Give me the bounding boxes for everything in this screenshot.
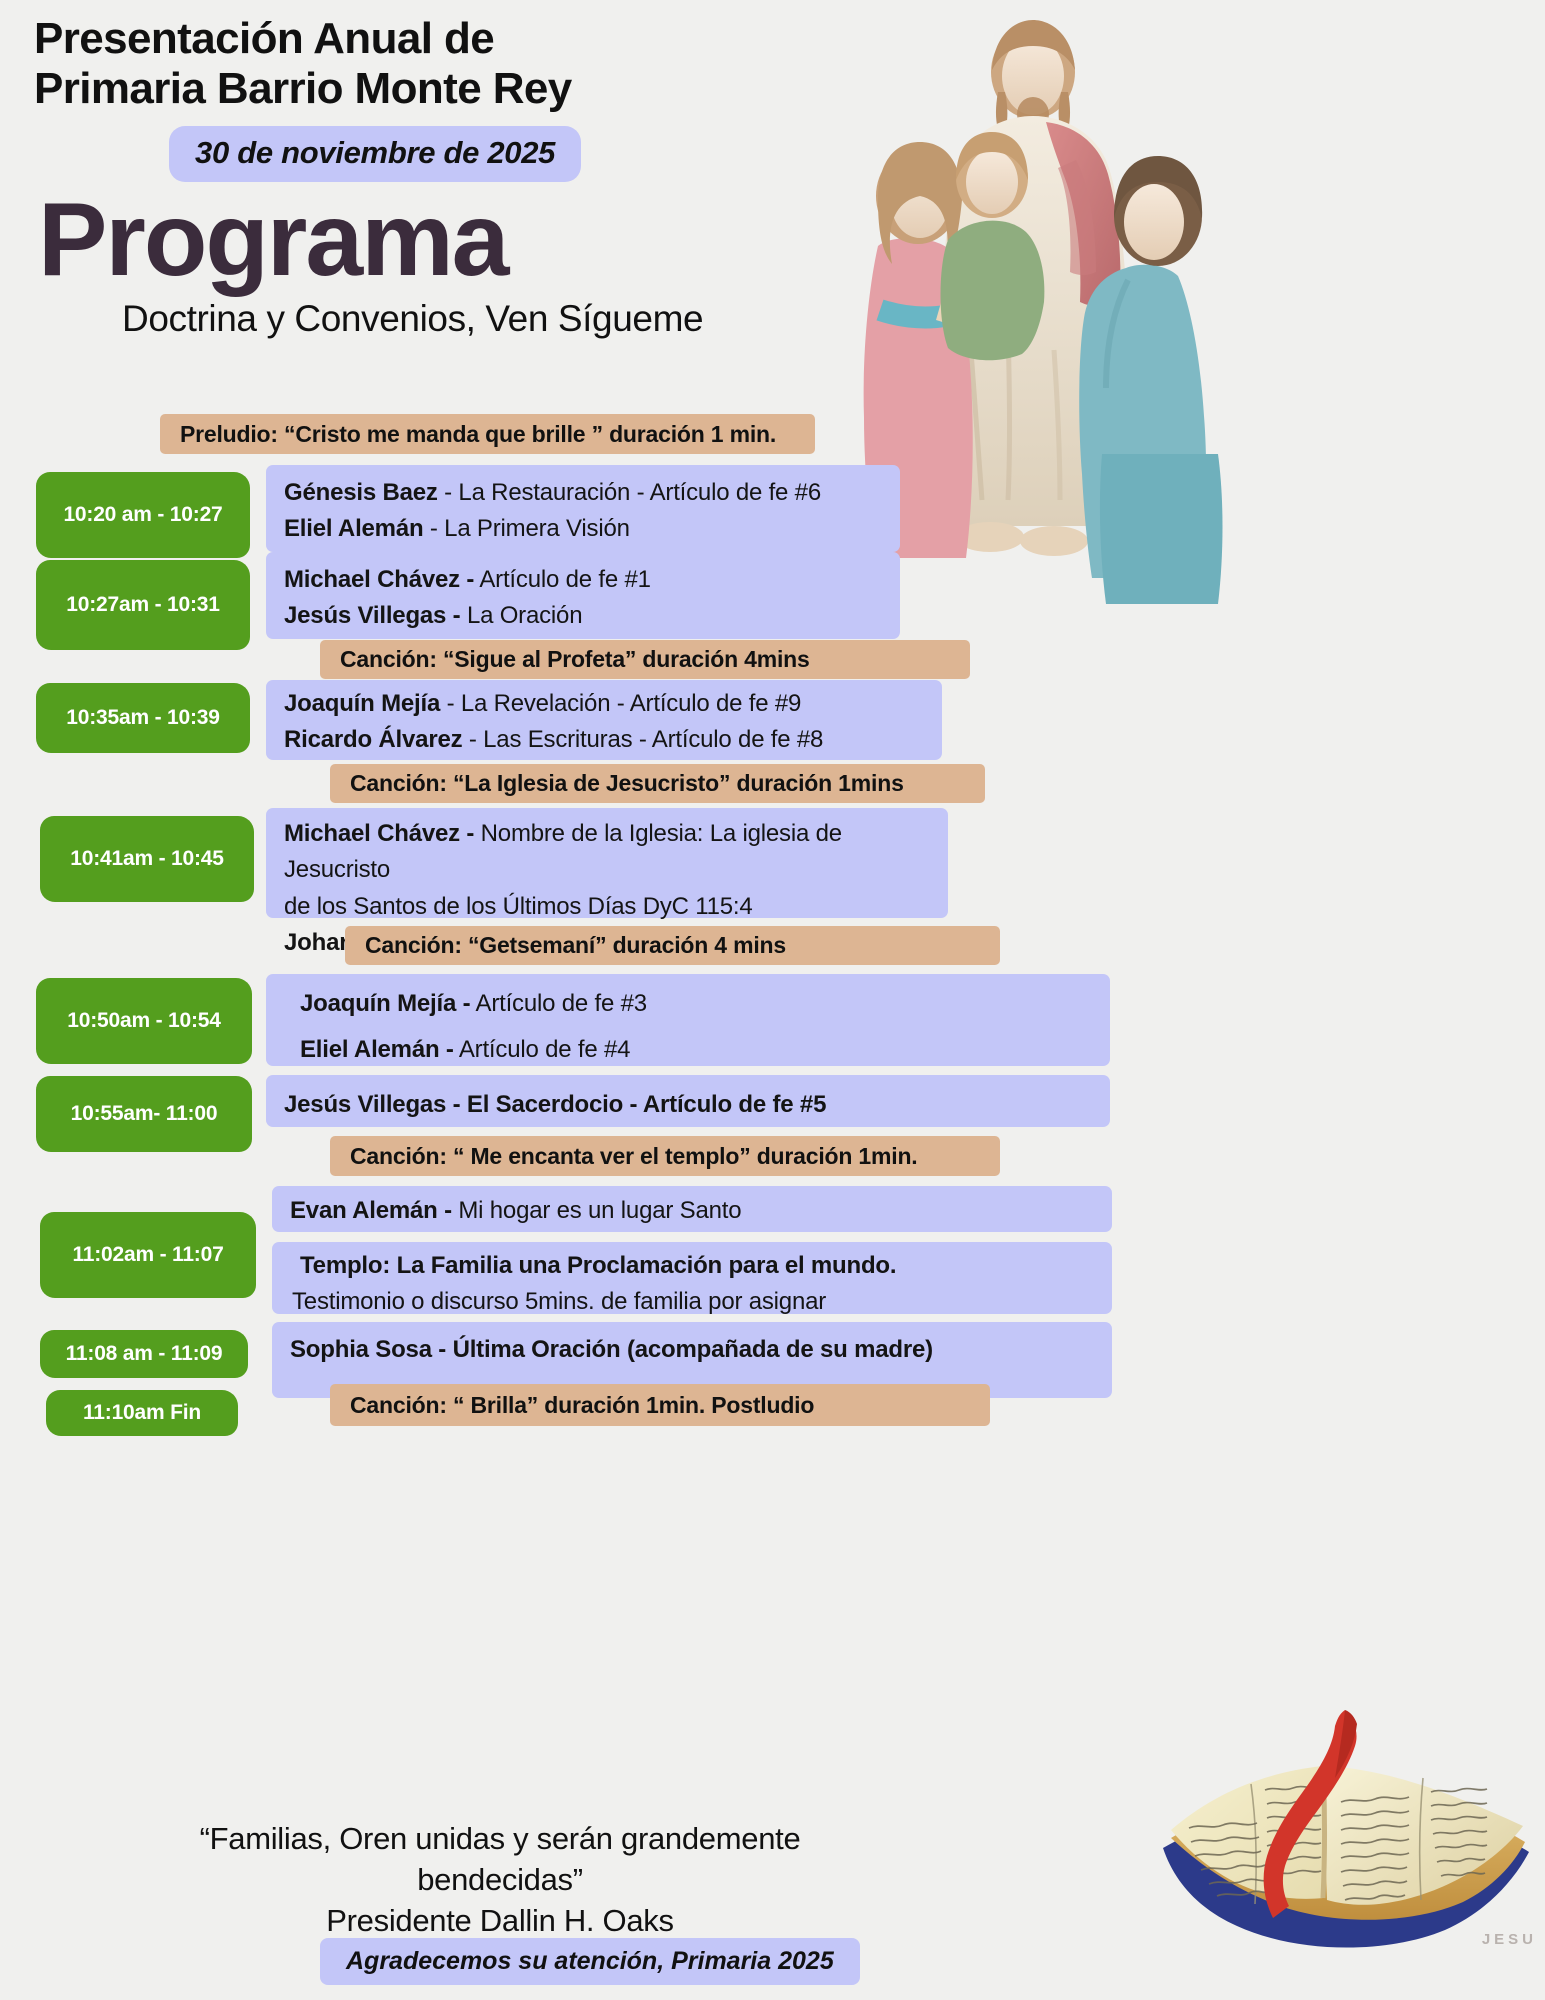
time-label: 11:10am Fin <box>83 1401 201 1425</box>
speaker-desc: Mi hogar es un lugar Santo <box>458 1197 741 1224</box>
speaker-line: Michael Chávez - Artículo de fe #1 <box>284 562 882 598</box>
big-title: Programa <box>38 188 934 292</box>
poster-header: Presentación Anual de Primaria Barrio Mo… <box>34 14 934 340</box>
speaker-name: Joaquín Mejía - <box>300 990 470 1017</box>
time-chip: 10:41am - 10:45 <box>40 816 254 902</box>
speaker-name: Eliel Alemán - <box>300 1036 454 1063</box>
time-label: 11:08 am - 11:09 <box>66 1342 223 1366</box>
speaker-name: Jesús Villegas - <box>284 602 460 629</box>
time-label: 10:55am- 11:00 <box>71 1102 218 1126</box>
time-chip: 11:08 am - 11:09 <box>40 1330 248 1378</box>
jesus-with-children-illustration <box>840 10 1240 605</box>
speaker-desc: La Oración <box>467 602 582 629</box>
time-label: 10:20 am - 10:27 <box>63 503 222 527</box>
time-chip: 11:02am - 11:07 <box>40 1212 256 1298</box>
open-book-illustration <box>1155 1680 1545 1980</box>
closing-quote: “Familias, Oren unidas y serán grandemen… <box>120 1818 880 1942</box>
quote-line-1: “Familias, Oren unidas y serán grandemen… <box>200 1821 801 1897</box>
speaker-bar: Joaquín Mejía - Artículo de fe #3 Eliel … <box>266 974 1110 1066</box>
prelude-bar: Preludio: “Cristo me manda que brille ” … <box>160 414 815 454</box>
song-label: Canción: “La Iglesia de Jesucristo” dura… <box>350 770 904 797</box>
speaker-name: Michael Chávez - <box>284 566 474 593</box>
quote-line-2: Presidente Dallin H. Oaks <box>120 1900 880 1941</box>
thanks-badge: Agradecemos su atención, Primaria 2025 <box>320 1938 860 1985</box>
speaker-desc: Artículo de fe #4 <box>459 1036 630 1063</box>
song-bar: Canción: “La Iglesia de Jesucristo” dura… <box>330 764 985 803</box>
song-bar: Canción: “ Me encanta ver el templo” dur… <box>330 1136 1000 1176</box>
speaker-line: Eliel Alemán - Artículo de fe #4 <box>300 1032 1092 1068</box>
song-bar: Canción: “Sigue al Profeta” duración 4mi… <box>320 640 970 679</box>
title-line-2: Primaria Barrio Monte Rey <box>34 64 934 114</box>
speaker-line: de los Santos de los Últimos Días DyC 11… <box>284 889 930 925</box>
song-bar: Canción: “ Brilla” duración 1min. Postlu… <box>330 1384 990 1426</box>
speaker-desc: Las Escrituras - Artículo de fe #8 <box>483 726 823 753</box>
time-chip: 11:10am Fin <box>46 1390 238 1436</box>
speaker-bar: Michael Chávez - Nombre de la Iglesia: L… <box>266 808 948 918</box>
time-label: 10:50am - 10:54 <box>67 1009 220 1033</box>
title-line-1: Presentación Anual de <box>34 14 934 64</box>
speaker-name: Jesús Villegas - El Sacerdocio - Artícul… <box>284 1091 826 1118</box>
song-label: Canción: “ Me encanta ver el templo” dur… <box>350 1143 917 1170</box>
speaker-bar: Joaquín Mejía - La Revelación - Artículo… <box>266 680 942 760</box>
speaker-name: Ricardo Álvarez <box>284 726 462 753</box>
speaker-desc: de los Santos de los Últimos Días DyC 11… <box>284 893 753 920</box>
speaker-name: Eliel Alemán <box>284 515 423 542</box>
time-chip: 10:20 am - 10:27 <box>36 472 250 558</box>
speaker-bar: Templo: La Familia una Proclamación para… <box>272 1242 1112 1314</box>
page-title: Presentación Anual de Primaria Barrio Mo… <box>34 14 934 114</box>
speaker-name: Joaquín Mejía <box>284 690 440 717</box>
speaker-bar: Michael Chávez - Artículo de fe #1 Jesús… <box>266 552 900 639</box>
speaker-desc: Testimonio o discurso 5mins. de familia … <box>292 1288 826 1315</box>
time-label: 11:02am - 11:07 <box>72 1243 223 1267</box>
time-label: 10:41am - 10:45 <box>70 847 223 871</box>
speaker-name: Génesis Baez <box>284 479 438 506</box>
program-poster: Presentación Anual de Primaria Barrio Mo… <box>0 0 1545 2000</box>
time-chip: 10:27am - 10:31 <box>36 560 250 650</box>
speaker-desc: La Primera Visión <box>444 515 630 542</box>
speaker-line: Templo: La Familia una Proclamación para… <box>300 1248 1094 1284</box>
speaker-line: Joaquín Mejía - La Revelación - Artículo… <box>284 686 924 722</box>
speaker-name: Templo: La Familia una Proclamación para… <box>300 1252 896 1279</box>
song-label: Canción: “ Brilla” duración 1min. Postlu… <box>350 1392 814 1419</box>
speaker-bar: Génesis Baez - La Restauración - Artícul… <box>266 465 900 552</box>
prelude-label: Preludio: “Cristo me manda que brille ” … <box>180 421 776 448</box>
speaker-bar: Evan Alemán - Mi hogar es un lugar Santo <box>272 1186 1112 1232</box>
time-chip: 10:35am - 10:39 <box>36 683 250 753</box>
speaker-name: Sophia Sosa - Última Oración (acompañada… <box>290 1336 933 1363</box>
speaker-line: Testimonio o discurso 5mins. de familia … <box>292 1284 1094 1320</box>
song-label: Canción: “Getsemaní” duración 4 mins <box>365 932 786 959</box>
song-label: Canción: “Sigue al Profeta” duración 4mi… <box>340 646 810 673</box>
speaker-line: Génesis Baez - La Restauración - Artícul… <box>284 475 882 511</box>
time-label: 10:27am - 10:31 <box>66 593 219 617</box>
time-chip: 10:55am- 11:00 <box>36 1076 252 1152</box>
speaker-desc: Artículo de fe #1 <box>479 566 650 593</box>
date-badge: 30 de noviembre de 2025 <box>169 126 581 182</box>
time-label: 10:35am - 10:39 <box>66 706 219 730</box>
speaker-name: Michael Chávez - <box>284 820 474 847</box>
time-chip: 10:50am - 10:54 <box>36 978 252 1064</box>
speaker-line: Ricardo Álvarez - Las Escrituras - Artíc… <box>284 722 924 758</box>
speaker-bar: Jesús Villegas - El Sacerdocio - Artícul… <box>266 1075 1110 1127</box>
speaker-line: Joaquín Mejía - Artículo de fe #3 <box>300 986 1092 1022</box>
speaker-desc: Artículo de fe #3 <box>476 990 647 1017</box>
speaker-name: Evan Alemán - <box>290 1197 452 1224</box>
song-bar: Canción: “Getsemaní” duración 4 mins <box>345 926 1000 965</box>
speaker-line: Eliel Alemán - La Primera Visión <box>284 511 882 547</box>
speaker-desc: La Restauración - Artículo de fe #6 <box>458 479 821 506</box>
speaker-desc: La Revelación - Artículo de fe #9 <box>461 690 801 717</box>
speaker-line: Michael Chávez - Nombre de la Iglesia: L… <box>284 816 930 889</box>
subtitle: Doctrina y Convenios, Ven Sígueme <box>122 298 934 340</box>
speaker-line: Jesús Villegas - La Oración <box>284 598 882 634</box>
